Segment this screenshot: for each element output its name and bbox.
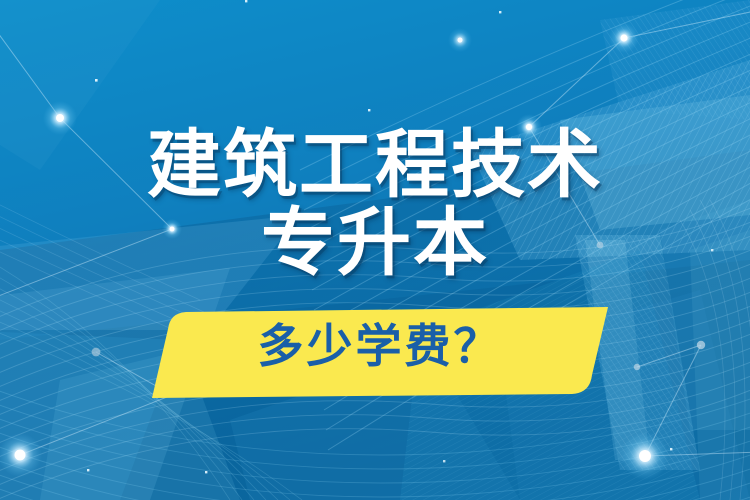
headline-line-1: 建筑工程技术 xyxy=(0,128,750,202)
poster-content: 建筑工程技术 专升本 多少学费？ xyxy=(0,0,750,500)
subtitle-banner: 多少学费？ xyxy=(140,305,620,400)
promo-poster: 建筑工程技术 专升本 多少学费？ xyxy=(0,0,750,500)
subtitle-banner-shape xyxy=(140,305,620,400)
page-title: 建筑工程技术 专升本 xyxy=(0,128,750,280)
headline-line-2: 专升本 xyxy=(0,206,750,280)
